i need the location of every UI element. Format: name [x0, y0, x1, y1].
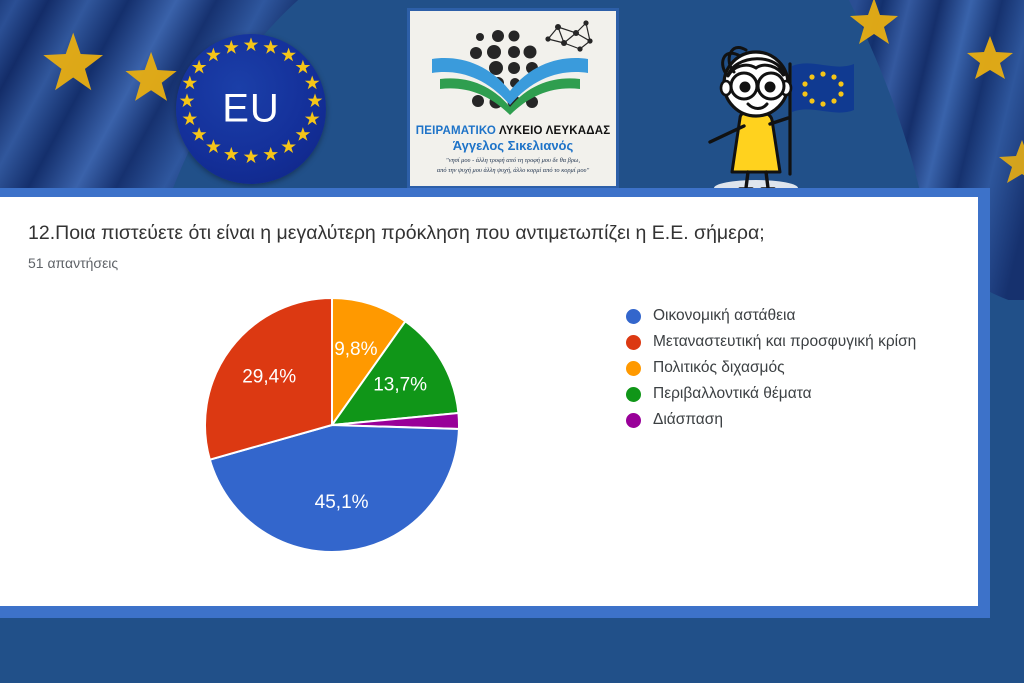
pie-slice-value-label: 29,4% [242, 367, 296, 388]
slide-canvas: EU ΠΕΙΡΑΜΑΤΙΚΟ ΛΥΚΕΙΟ ΛΕΥΚΑΔΑΣ Άγγελος Σ… [0, 0, 1024, 683]
question-title: 12.Ποια πιστεύετε ότι είναι η μεγαλύτερη… [28, 222, 765, 245]
school-logo-graphic [418, 15, 608, 127]
legend-item-label: Περιβαλλοντικά θέματα [653, 385, 812, 403]
legend-color-swatch [626, 335, 641, 350]
school-motto-line2: από την ψυχή μου άλλη ψυχή, άλλο κορμί α… [437, 166, 589, 176]
legend-item-label: Πολιτικός διχασμός [653, 359, 785, 377]
pie-slice-value-label: 13,7% [373, 375, 427, 396]
legend-color-swatch [626, 387, 641, 402]
school-name-line2: Άγγελος Σικελιανός [453, 138, 574, 153]
school-name-prefix: ΠΕΙΡΑΜΑΤΙΚΟ [416, 125, 499, 137]
legend-color-swatch [626, 309, 641, 324]
content-card-inner: 12.Ποια πιστεύετε ότι είναι η μεγαλύτερη… [12, 197, 978, 606]
chart-legend: Οικονομική αστάθειαΜεταναστευτική και πρ… [626, 303, 916, 433]
legend-item-label: Διάσπαση [653, 411, 723, 429]
legend-item[interactable]: Περιβαλλοντικά θέματα [626, 381, 916, 407]
pie-chart: 9,8%13,7%45,1%29,4% Οικονομική αστάθειαΜ… [12, 283, 978, 593]
legend-color-swatch [626, 413, 641, 428]
school-logo-card: ΠΕΙΡΑΜΑΤΙΚΟ ΛΥΚΕΙΟ ΛΕΥΚΑΔΑΣ Άγγελος Σικε… [407, 8, 619, 189]
school-name-line1: ΠΕΙΡΑΜΑΤΙΚΟ ΛΥΚΕΙΟ ΛΕΥΚΑΔΑΣ [416, 125, 611, 137]
legend-item[interactable]: Οικονομική αστάθεια [626, 303, 916, 329]
legend-item[interactable]: Μεταναστευτική και προσφυγική κρίση [626, 329, 916, 355]
school-name-rest: ΛΥΚΕΙΟ ΛΕΥΚΑΔΑΣ [499, 125, 610, 137]
school-motto-line1: "νησί μου - άλλη τροφή από τη τροφή μου … [437, 156, 589, 166]
legend-item-label: Οικονομική αστάθεια [653, 307, 795, 325]
pie-slice-value-label: 45,1% [315, 492, 369, 513]
eu-emblem: EU [176, 34, 326, 184]
eu-emblem-label: EU [176, 87, 326, 132]
legend-item[interactable]: Πολιτικός διχασμός [626, 355, 916, 381]
pie-svg: 9,8%13,7%45,1%29,4% [202, 295, 462, 555]
girl-with-eu-flag-illustration [684, 22, 874, 197]
pie-slices[interactable] [205, 298, 459, 552]
legend-item[interactable]: Διάσπαση [626, 407, 916, 433]
pie-graphic-wrapper: 9,8%13,7%45,1%29,4% [202, 295, 462, 555]
school-motto: "νησί μου - άλλη τροφή από τη τροφή μου … [431, 156, 595, 175]
pie-slice-value-label: 9,8% [334, 339, 377, 360]
response-count: 51 απαντήσεις [28, 255, 118, 271]
legend-color-swatch [626, 361, 641, 376]
legend-item-label: Μεταναστευτική και προσφυγική κρίση [653, 333, 916, 351]
content-card: 12.Ποια πιστεύετε ότι είναι η μεγαλύτερη… [0, 197, 978, 606]
